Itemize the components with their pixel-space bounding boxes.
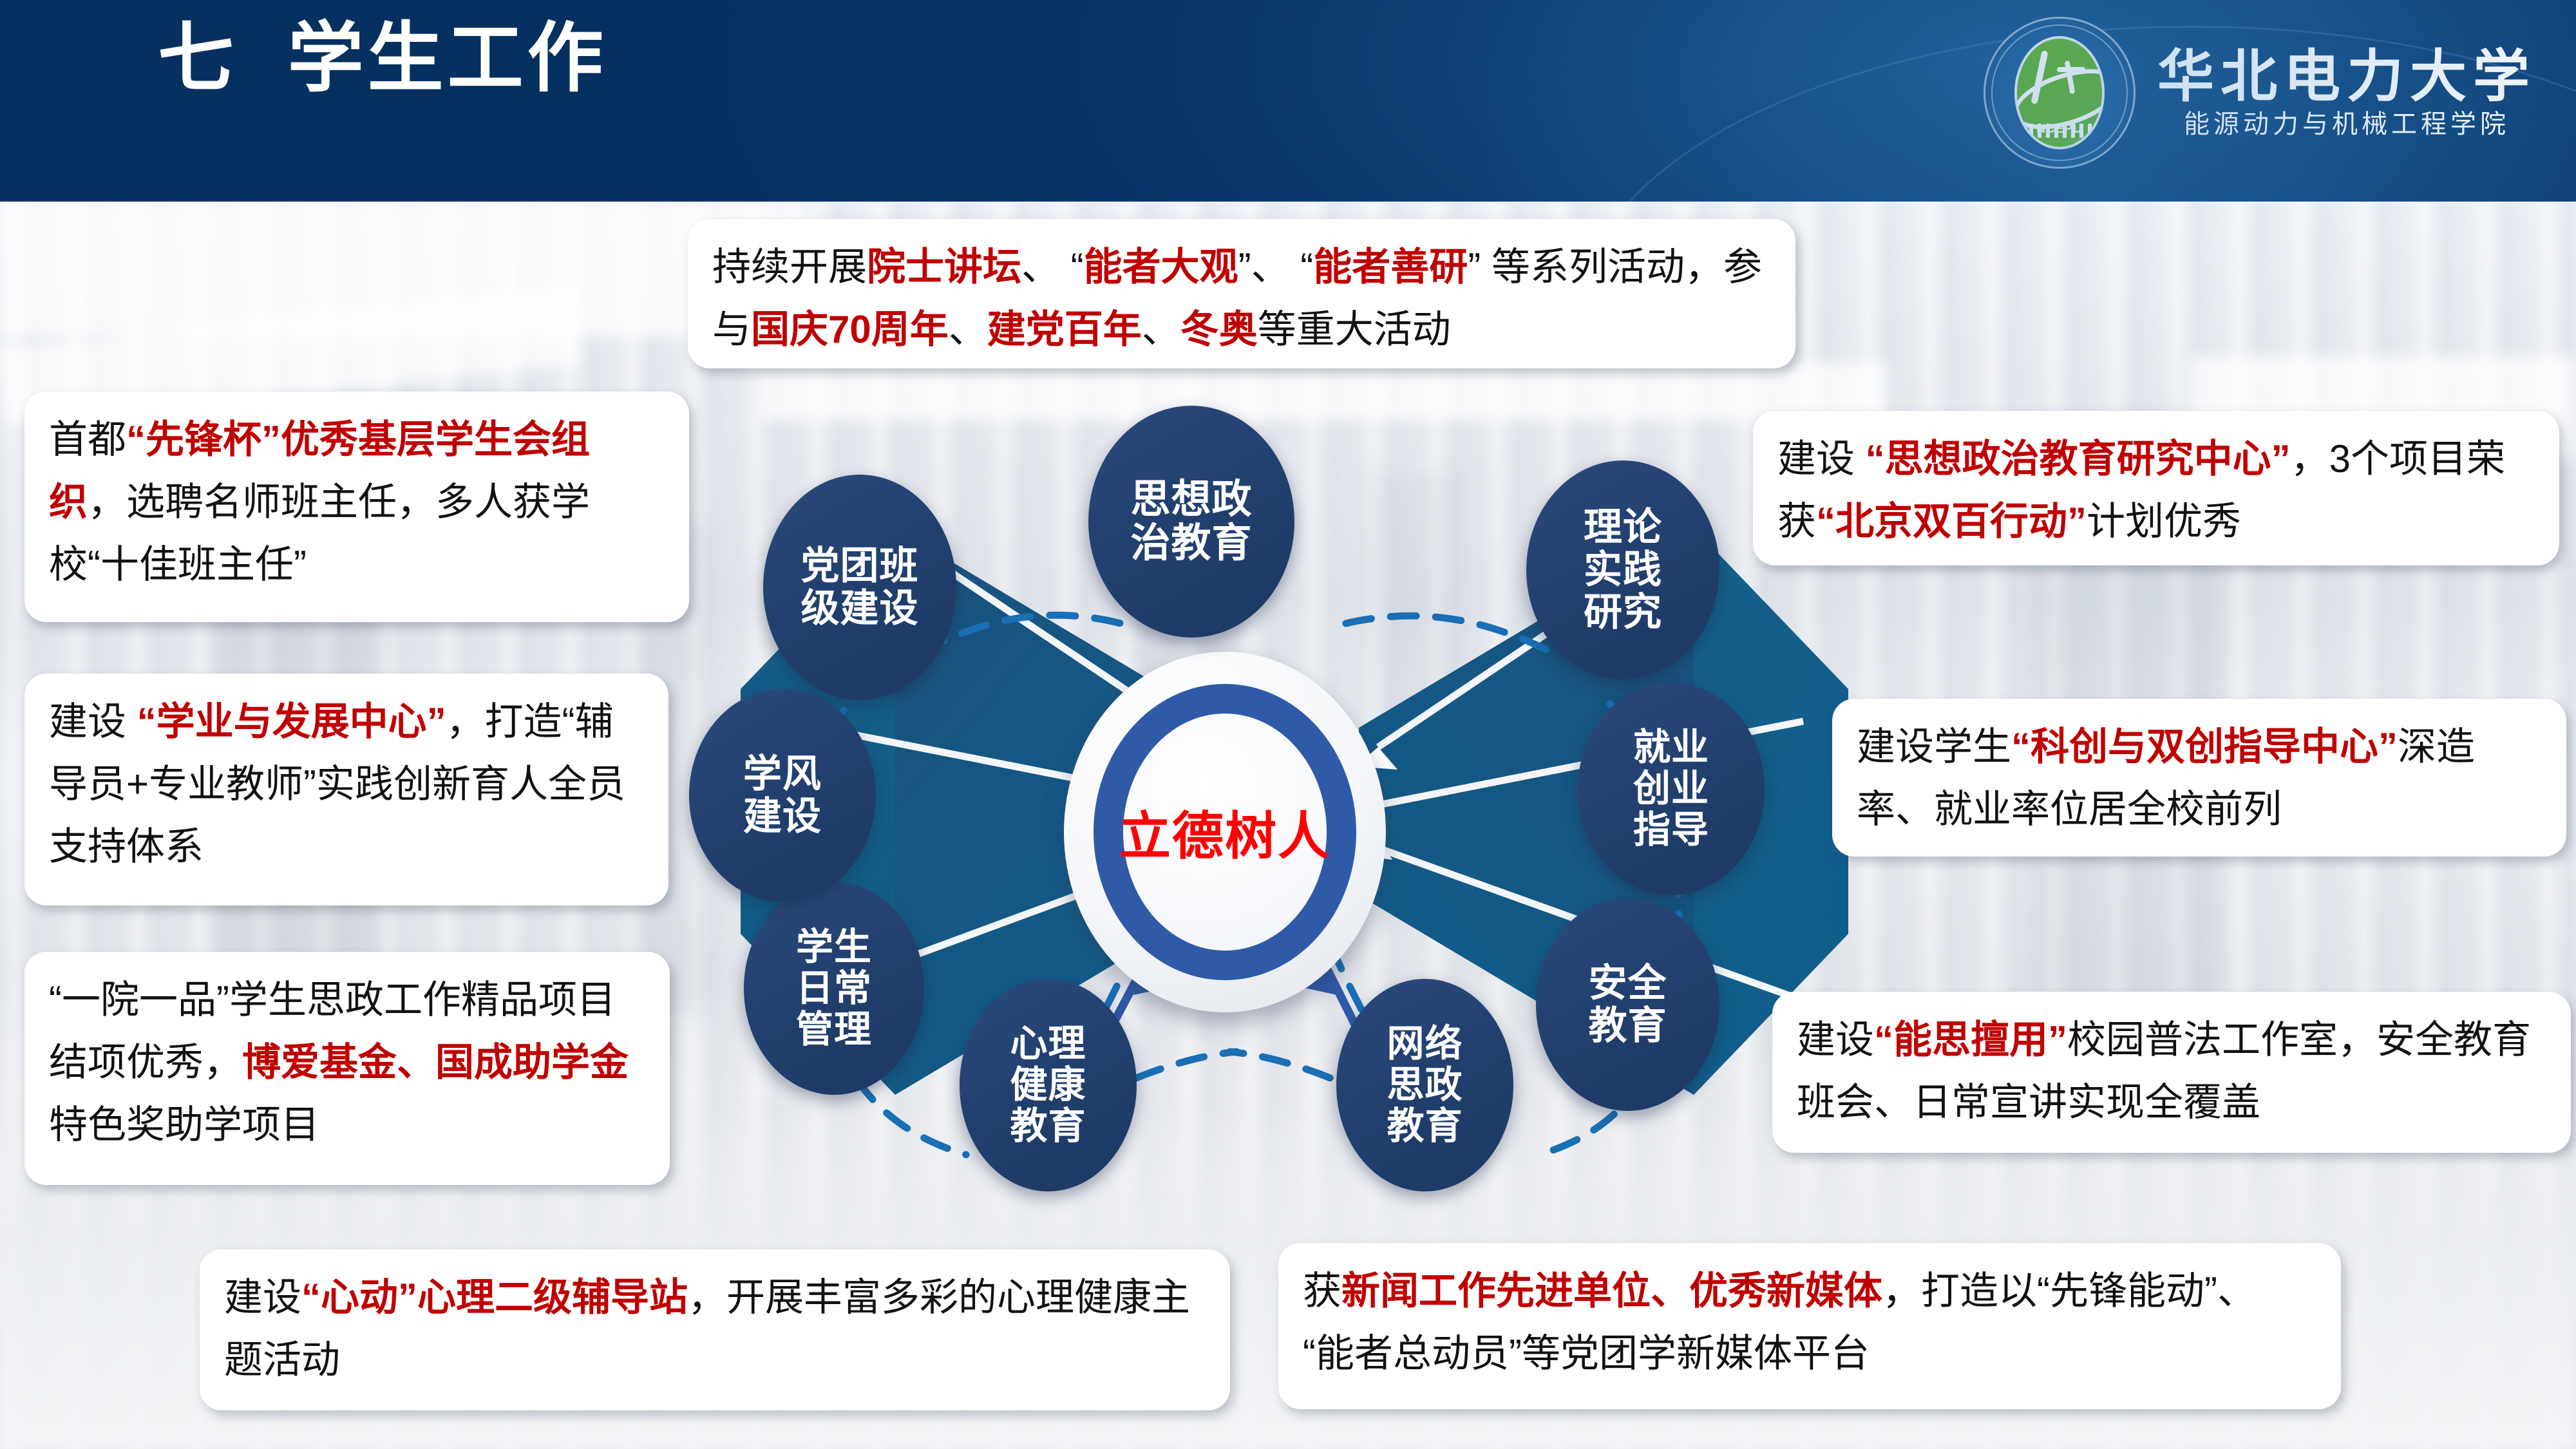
callout-right-2: 建设学生“科创与双创指导中心”深造率、就业率位居全校前列 xyxy=(1832,699,2566,857)
node-label: 就业创业指导 xyxy=(1629,727,1713,850)
node-lilunshijian[interactable]: 理论实践研究 xyxy=(1526,460,1719,679)
callout-bottom-2: 获新闻工作先进单位、优秀新媒体，打造以“先锋能动”、 “能者总动员”等党团学新媒… xyxy=(1278,1243,2341,1409)
node-sixiangzhengzhi[interactable]: 思想政治教育 xyxy=(1088,406,1294,638)
node-label: 学风建设 xyxy=(739,753,826,838)
university-logo: NCEPU 华北电力大学 能源动力与机械工程学院 xyxy=(1984,17,2536,169)
node-xuefeng[interactable]: 学风建设 xyxy=(689,689,876,902)
university-name: 华北电力大学 xyxy=(2157,48,2536,105)
callout-bottom-1: 建设“心动”心理二级辅导站，开展丰富多彩的心理健康主题活动 xyxy=(200,1249,1230,1410)
node-anquan[interactable]: 安全教育 xyxy=(1536,898,1719,1111)
node-label: 心理健康教育 xyxy=(1006,1023,1090,1146)
node-label: 党团班级建设 xyxy=(797,545,923,630)
node-dangtuanbanji[interactable]: 党团班级建设 xyxy=(763,475,956,700)
emblem-acronym: NCEPU xyxy=(2017,122,2102,137)
hub-label: 立德树人 xyxy=(1064,795,1386,869)
callout-left-2: 建设 “学业与发展中心”，打造“辅导员+专业教师”实践创新育人全员支持体系 xyxy=(24,674,668,905)
node-label: 安全教育 xyxy=(1585,962,1671,1047)
node-label: 网络思政教育 xyxy=(1383,1023,1466,1146)
page-title: 七 学生工作 xyxy=(158,19,607,99)
node-label: 思想政治教育 xyxy=(1126,478,1256,565)
header-arc-decoration xyxy=(1578,26,2576,202)
callout-left-3: “一院一品”学生思政工作精品项目结项优秀，博爱基金、国成助学金特色奖助学项目 xyxy=(24,952,670,1185)
node-xinli[interactable]: 心理健康教育 xyxy=(960,979,1137,1191)
node-wangluosizheng[interactable]: 网络思政教育 xyxy=(1336,979,1513,1191)
school-name: 能源动力与机械工程学院 xyxy=(2184,111,2510,137)
node-label: 学生日常管理 xyxy=(792,927,876,1050)
ncepu-emblem-icon: NCEPU xyxy=(1984,17,2136,169)
slide-header: 七 学生工作 NCEPU 华北电力大学 能源动力与机械工程学院 xyxy=(0,0,2576,202)
diagram-center-hub: 立德树人 xyxy=(1064,652,1386,1012)
callout-left-1: 首都“先锋杯”优秀基层学生会组织，选聘名师班主任，多人获学校“十佳班主任” xyxy=(24,392,689,622)
callout-top: 持续开展院士讲坛、 “能者大观”、 “能者善研” 等系列活动，参与国庆70周年、… xyxy=(688,219,1795,368)
node-xueshengrichang[interactable]: 学生日常管理 xyxy=(744,882,924,1095)
callout-right-1: 建设 “思想政治教育研究中心”，3个项目荣获“北京双百行动”计划优秀 xyxy=(1753,411,2559,565)
node-label: 理论实践研究 xyxy=(1580,506,1666,634)
slide-canvas: 七 学生工作 NCEPU 华北电力大学 能源动力与机械工程学院 xyxy=(0,0,2576,1449)
node-jiuye[interactable]: 就业创业指导 xyxy=(1578,683,1765,895)
callout-right-3: 建设“能思擅用”校园普法工作室，安全教育班会、日常宣讲实现全覆盖 xyxy=(1772,992,2571,1153)
